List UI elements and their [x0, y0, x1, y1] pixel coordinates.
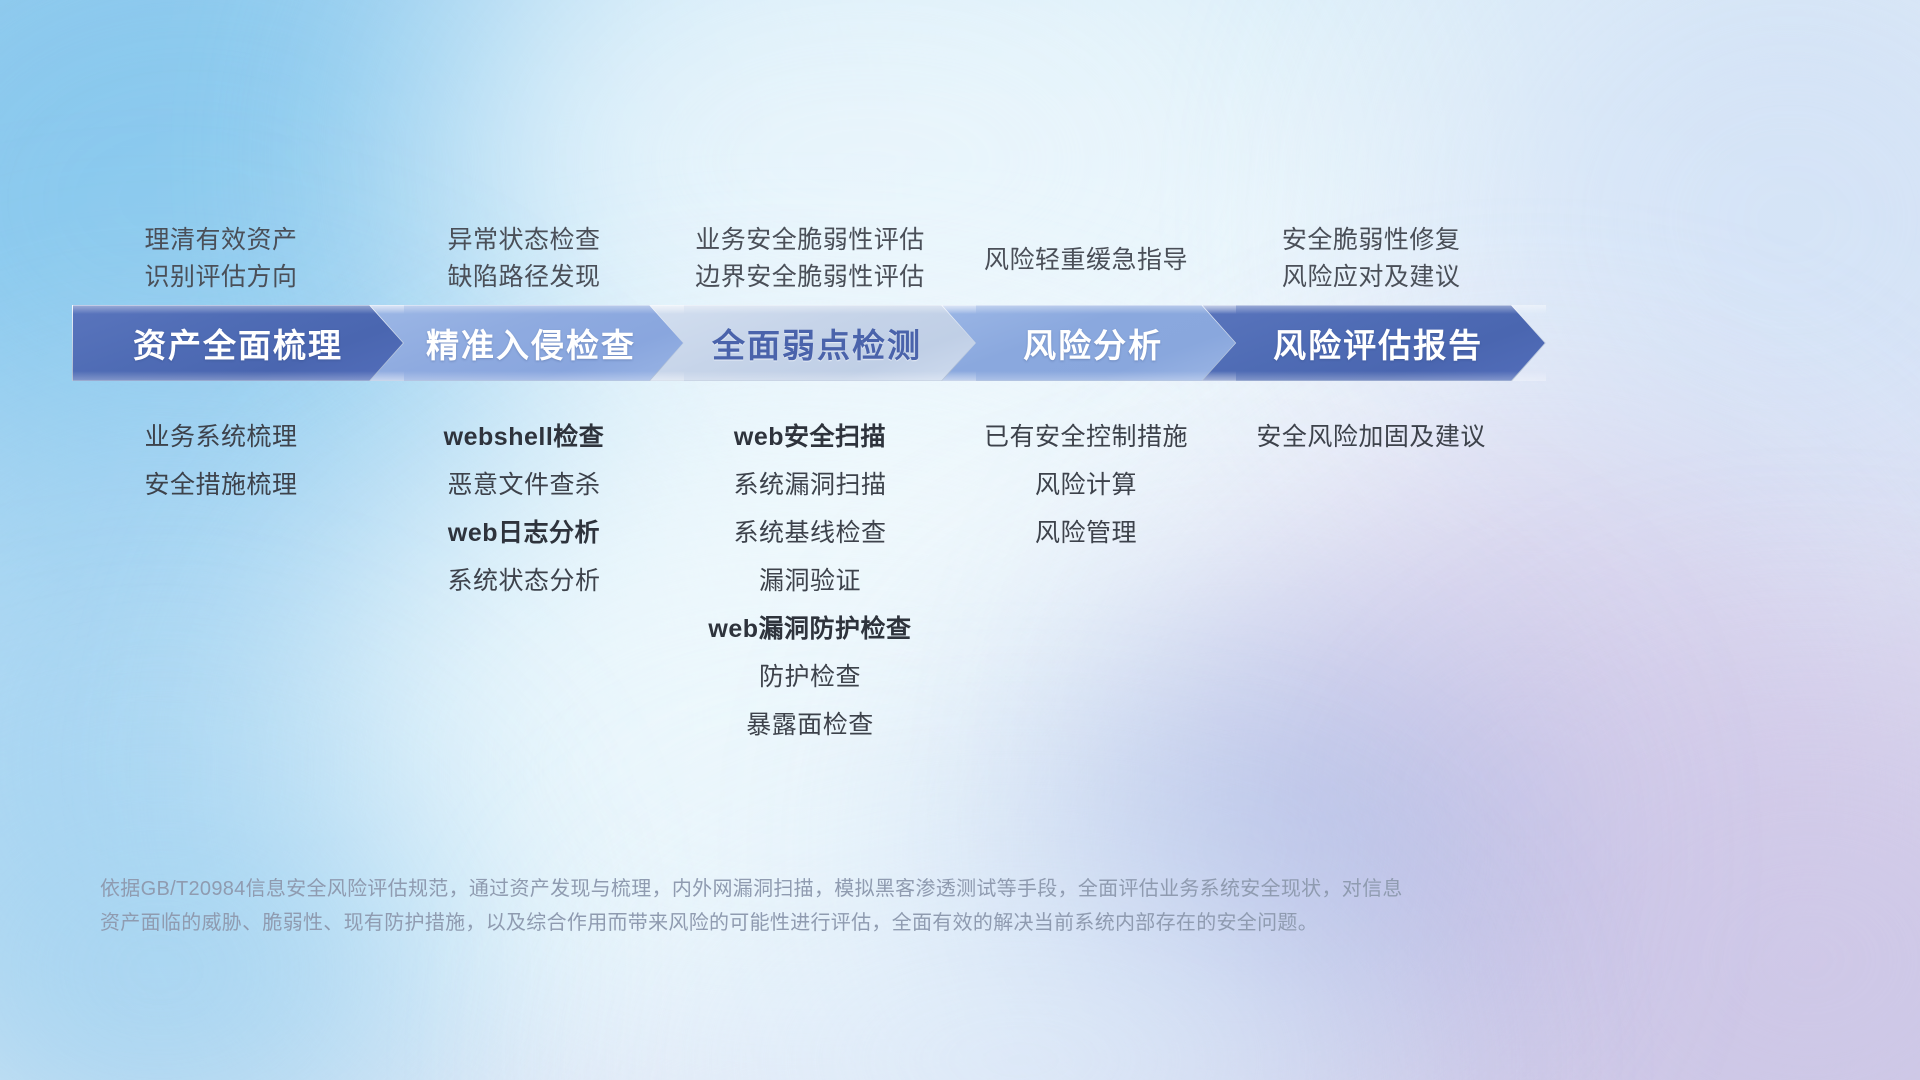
bottom-item: 漏洞验证 [759, 557, 861, 605]
bottom-item: 风险计算 [1035, 461, 1137, 509]
bottom-item: 系统漏洞扫描 [733, 461, 886, 509]
top-item: 风险轻重缓急指导 [984, 248, 1188, 273]
bottom-item: 安全措施梳理 [144, 461, 297, 509]
stage-title-asset-inventory: 资产全面梳理 [133, 319, 343, 367]
stage-title-intrusion-check: 精准入侵检查 [412, 319, 636, 367]
top-item: 识别评估方向 [144, 265, 297, 290]
top-items-risk-report: 安全脆弱性修复风险应对及建议 [1171, 228, 1571, 290]
bottom-item: 业务系统梳理 [144, 413, 297, 461]
bottom-item: web漏洞防护检查 [708, 605, 911, 653]
stage-chevron-intrusion-check[interactable]: 精准入侵检查 [364, 305, 684, 381]
top-item: 异常状态检查 [447, 228, 600, 253]
top-item: 理清有效资产 [144, 228, 297, 253]
bottom-item: 防护检查 [759, 653, 861, 701]
footer-line-1: 依据GB/T20984信息安全风险评估规范，通过资产发现与梳理，内外网漏洞扫描，… [100, 872, 1700, 906]
bottom-item: 暴露面检查 [746, 701, 874, 749]
bottom-items-risk-report: 安全风险加固及建议 [1151, 413, 1591, 461]
stage-chevron-band: 资产全面梳理精准入侵检查全面弱点检测风险分析风险评估报告 [72, 305, 1512, 381]
bottom-item: 风险管理 [1035, 509, 1137, 557]
stage-title-risk-analysis: 风险分析 [1009, 319, 1163, 367]
stage-chevron-risk-analysis[interactable]: 风险分析 [936, 305, 1236, 381]
process-diagram: 理清有效资产识别评估方向异常状态检查缺陷路径发现业务安全脆弱性评估边界安全脆弱性… [0, 0, 1920, 1080]
bottom-detail-row: 业务系统梳理安全措施梳理webshell检查恶意文件查杀web日志分析系统状态分… [0, 413, 1920, 713]
bottom-item: 安全风险加固及建议 [1256, 413, 1486, 461]
bottom-item: 系统基线检查 [733, 509, 886, 557]
footer-description: 依据GB/T20984信息安全风险评估规范，通过资产发现与梳理，内外网漏洞扫描，… [100, 872, 1700, 940]
bottom-item: web日志分析 [448, 509, 600, 557]
top-item: 安全脆弱性修复 [1282, 228, 1461, 253]
bottom-item: 系统状态分析 [447, 557, 600, 605]
stage-chevron-weakness-detection[interactable]: 全面弱点检测 [644, 305, 976, 381]
footer-line-2: 资产面临的威胁、脆弱性、现有防护措施，以及综合作用而带来风险的可能性进行评估，全… [100, 906, 1700, 940]
stage-title-risk-report: 风险评估报告 [1259, 319, 1483, 367]
bottom-item: web安全扫描 [734, 413, 886, 461]
top-item: 风险应对及建议 [1282, 265, 1461, 290]
top-item: 缺陷路径发现 [447, 265, 600, 290]
stage-chevron-risk-report[interactable]: 风险评估报告 [1196, 305, 1546, 381]
bottom-item: 恶意文件查杀 [447, 461, 600, 509]
bottom-item: webshell检查 [444, 413, 605, 461]
stage-chevron-asset-inventory[interactable]: 资产全面梳理 [72, 305, 404, 381]
stage-title-weakness-detection: 全面弱点检测 [698, 319, 922, 367]
